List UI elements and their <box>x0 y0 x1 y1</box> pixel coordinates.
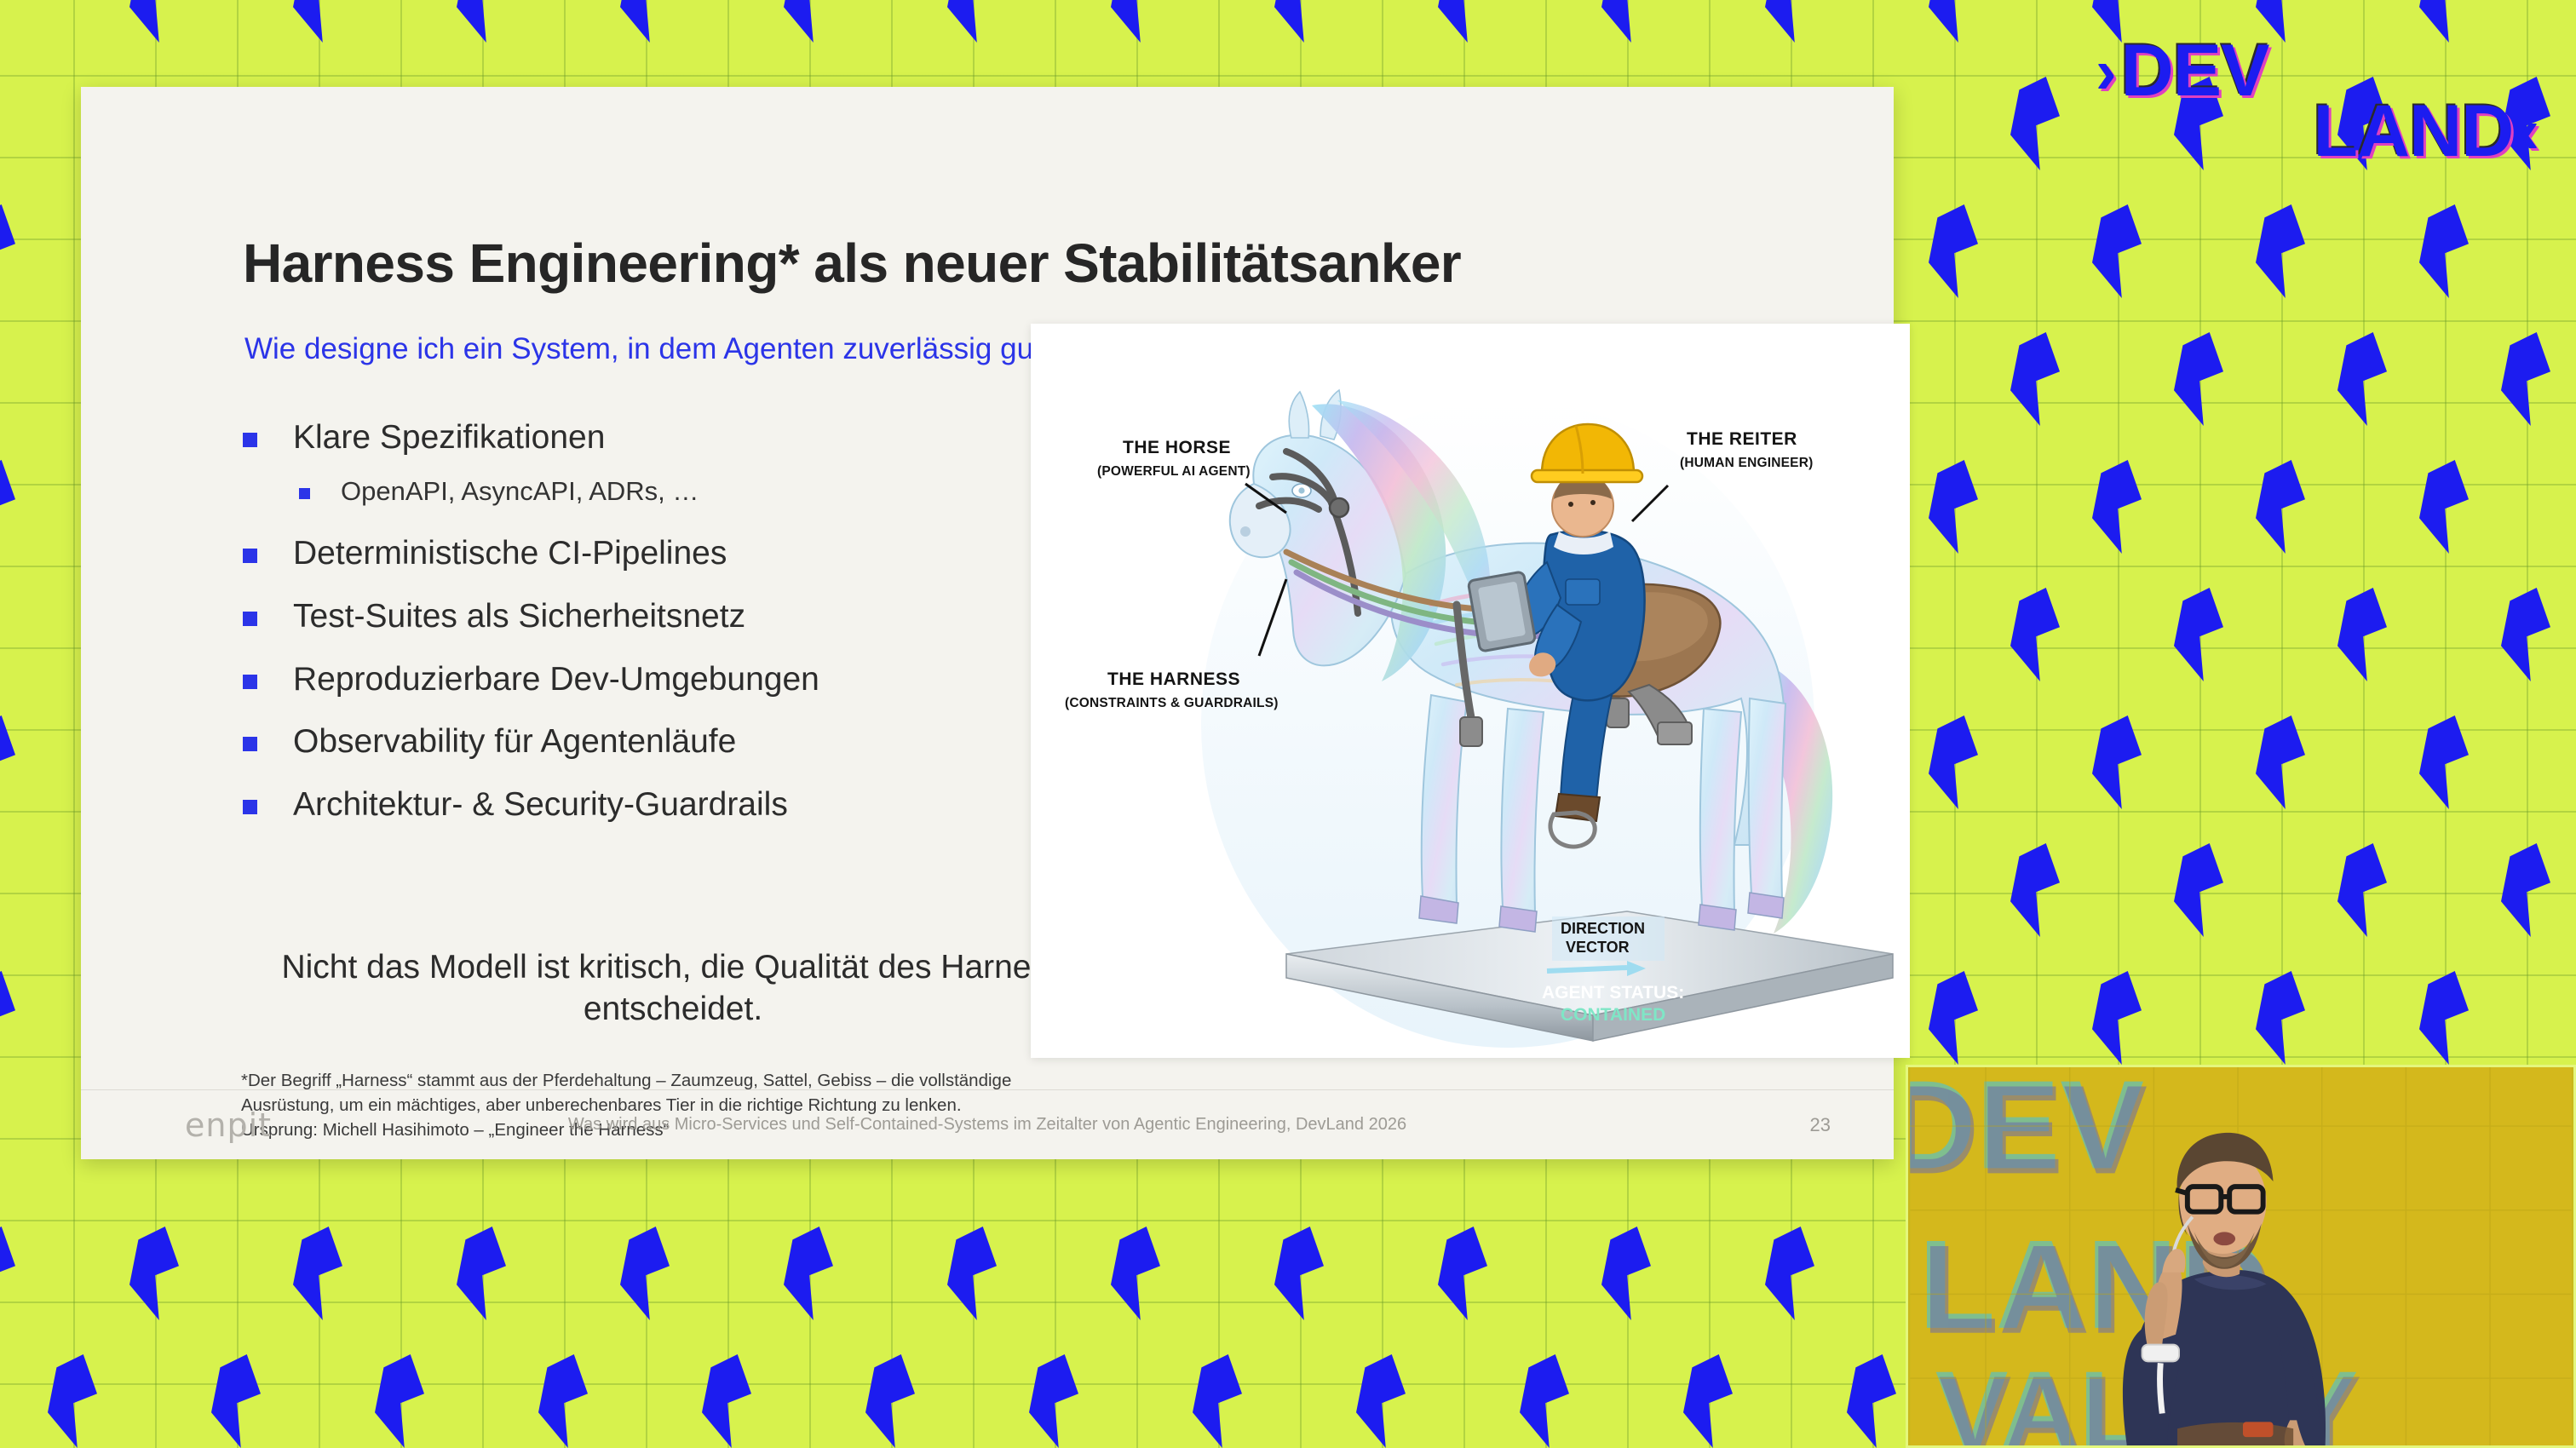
background-shard <box>2256 204 2305 298</box>
label-rider-title: THE REITER <box>1687 429 1797 449</box>
label-harness-title: THE HARNESS <box>1107 669 1240 689</box>
background-shard <box>48 1354 97 1448</box>
bullet-square-icon <box>243 737 257 751</box>
direction-vector-line2: VECTOR <box>1566 939 1630 956</box>
bullet-square-icon <box>243 433 257 447</box>
list-item: Architektur- & Security-Guardrails <box>243 786 1044 824</box>
background-shard <box>947 1227 997 1320</box>
background-shard <box>1438 0 1487 43</box>
agent-status-label: AGENT STATUS: <box>1542 983 1684 1003</box>
background-shard <box>2010 332 2060 426</box>
background-shard <box>0 1227 15 1320</box>
background-shard <box>1929 0 1978 43</box>
list-item-label: Architektur- & Security-Guardrails <box>293 786 788 824</box>
background-shard <box>2419 0 2469 43</box>
bullet-square-icon <box>243 675 257 689</box>
list-item: OpenAPI, AsyncAPI, ADRs, … <box>243 477 1044 507</box>
devland-logo-line1: DEV <box>2121 41 2269 101</box>
background-shard <box>2256 971 2305 1065</box>
chevron-right-icon: › <box>2096 46 2116 96</box>
background-shard <box>1520 1354 1569 1448</box>
background-shard <box>1029 1354 1078 1448</box>
background-shard <box>2092 204 2142 298</box>
background-shard <box>0 460 15 554</box>
background-shard <box>538 1354 588 1448</box>
background-shard <box>784 0 833 43</box>
list-item-label: Observability für Agentenläufe <box>293 723 736 761</box>
background-shard <box>1929 204 1978 298</box>
devland-logo: › DEV LAND ‹ <box>2096 41 2539 186</box>
background-shard <box>211 1354 261 1448</box>
list-item-label: Klare Spezifikationen <box>293 419 605 457</box>
slide-page-number: 23 <box>1810 1114 1831 1136</box>
devland-logo-line2: LAND <box>2313 101 2513 162</box>
background-shard <box>293 1227 342 1320</box>
chevron-left-icon: ‹ <box>2518 106 2539 156</box>
background-shard <box>2174 588 2223 681</box>
bullet-square-icon <box>299 488 310 499</box>
speaker-video-tile[interactable]: DEV LAND VALLEY DEV LAND VALLEY <box>1906 1065 2576 1448</box>
background-shard <box>1929 971 1978 1065</box>
background-shard <box>1929 715 1978 809</box>
background-shard <box>1274 1227 1324 1320</box>
background-shard <box>2010 77 2060 170</box>
background-shard <box>2337 843 2387 937</box>
background-shard <box>0 971 15 1065</box>
label-harness-sub: (CONSTRAINTS & GUARDRAILS) <box>1065 696 1279 710</box>
enpit-logo: enpit <box>185 1106 272 1144</box>
background-shard <box>2419 460 2469 554</box>
background-shard <box>620 0 670 43</box>
background-shard <box>2092 971 2142 1065</box>
pull-quote: Nicht das Modell ist kritisch, die Quali… <box>243 947 1103 1031</box>
list-item: Observability für Agentenläufe <box>243 723 1044 761</box>
background-shard <box>1111 0 1160 43</box>
background-shard <box>457 0 506 43</box>
background-shard <box>947 0 997 43</box>
list-item: Klare Spezifikationen <box>243 419 1044 457</box>
background-shard <box>620 1227 670 1320</box>
background-shard <box>129 1227 179 1320</box>
harness-illustration: THE HORSE (POWERFUL AI AGENT) THE REITER… <box>1031 324 1910 1058</box>
list-item: Deterministische CI-Pipelines <box>243 535 1044 572</box>
background-shard <box>2501 588 2550 681</box>
background-shard <box>2419 971 2469 1065</box>
bullet-square-icon <box>243 800 257 814</box>
background-shard <box>2337 332 2387 426</box>
background-shard <box>2419 715 2469 809</box>
background-shard <box>1111 1227 1160 1320</box>
label-horse-sub: (POWERFUL AI AGENT) <box>1097 464 1251 479</box>
presentation-slide: Harness Engineering* als neuer Stabilitä… <box>81 87 1894 1159</box>
background-shard <box>1356 1354 1406 1448</box>
background-shard <box>2337 588 2387 681</box>
background-shard <box>2501 332 2550 426</box>
background-shard <box>2419 204 2469 298</box>
agent-status-value: CONTAINED <box>1561 1005 1665 1025</box>
background-shard <box>1601 1227 1651 1320</box>
list-item-label: Reproduzierbare Dev-Umgebungen <box>293 661 819 698</box>
svg-text:DEV: DEV <box>1908 1067 2148 1200</box>
background-shard <box>1765 1227 1814 1320</box>
background-shard <box>457 1227 506 1320</box>
direction-vector-line1: DIRECTION <box>1561 920 1645 937</box>
background-shard <box>784 1227 833 1320</box>
label-rider-sub: (HUMAN ENGINEER) <box>1680 456 1813 470</box>
background-shard <box>293 0 342 43</box>
footer-talk-title: Was wird aus Micro-Services und Self-Con… <box>568 1115 1406 1135</box>
background-shard <box>2256 460 2305 554</box>
background-shard <box>2256 715 2305 809</box>
background-shard <box>2174 332 2223 426</box>
background-shard <box>1193 1354 1242 1448</box>
list-item-label: Test-Suites als Sicherheitsnetz <box>293 598 745 635</box>
label-horse-title: THE HORSE <box>1123 438 1231 457</box>
background-shard <box>129 0 179 43</box>
bullet-list: Klare Spezifikationen OpenAPI, AsyncAPI,… <box>243 419 1044 849</box>
background-shard <box>702 1354 751 1448</box>
background-shard <box>0 0 15 43</box>
background-shard <box>1601 0 1651 43</box>
background-shard <box>1847 1354 1896 1448</box>
background-shard <box>375 1354 424 1448</box>
slide-footer: enpit Was wird aus Micro-Services und Se… <box>81 1089 1894 1159</box>
background-shard <box>865 1354 915 1448</box>
background-shard <box>2174 843 2223 937</box>
list-item-label: OpenAPI, AsyncAPI, ADRs, … <box>341 477 699 507</box>
slide-title: Harness Engineering* als neuer Stabilitä… <box>243 232 1461 295</box>
background-shard <box>1929 460 1978 554</box>
list-item: Reproduzierbare Dev-Umgebungen <box>243 661 1044 698</box>
background-shard <box>2010 843 2060 937</box>
bullet-square-icon <box>243 549 257 563</box>
background-shard <box>1274 0 1324 43</box>
bullet-square-icon <box>243 612 257 626</box>
list-item: Test-Suites als Sicherheitsnetz <box>243 598 1044 635</box>
background-shard <box>0 715 15 809</box>
background-shard <box>1438 1227 1487 1320</box>
background-shard <box>2092 460 2142 554</box>
background-shard <box>2010 588 2060 681</box>
background-shard <box>0 204 15 298</box>
background-shard <box>2501 843 2550 937</box>
background-shard <box>1683 1354 1733 1448</box>
background-shard <box>2092 715 2142 809</box>
list-item-label: Deterministische CI-Pipelines <box>293 535 727 572</box>
background-shard <box>1765 0 1814 43</box>
